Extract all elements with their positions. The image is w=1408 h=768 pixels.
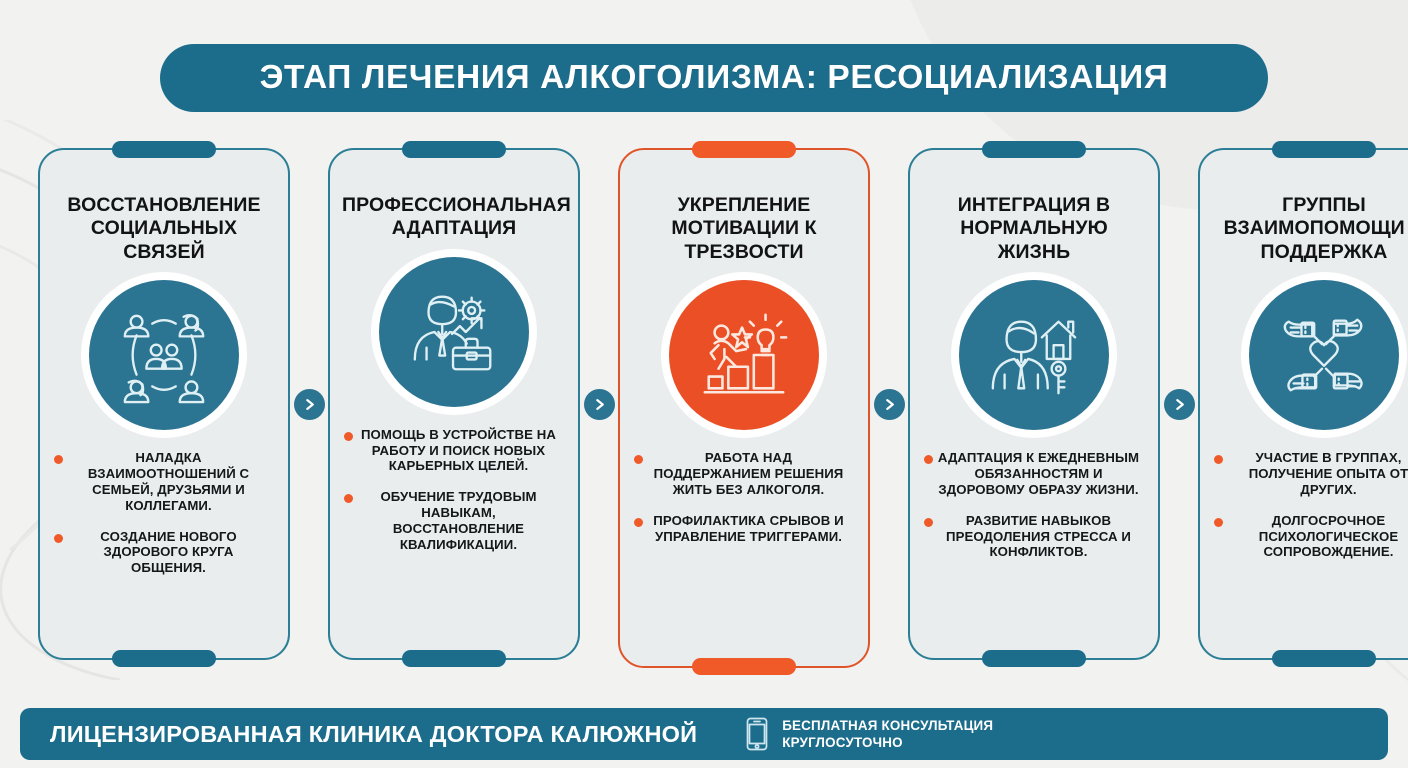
stage-card-title: УКРЕПЛЕНИЕ МОТИВАЦИИ К ТРЕЗВОСТИ [632,194,856,264]
stage-card-title: ПРОФЕССИОНАЛЬНАЯ АДАПТАЦИЯ [342,194,566,241]
card-tab-top [1272,141,1376,158]
stage-card-5[interactable]: ГРУППЫ ВЗАИМОПОМОЩИ И ПОДДЕРЖКА [1198,148,1408,660]
businessman-career-icon [405,283,503,381]
cta-line-1: БЕСПЛАТНАЯ КОНСУЛЬТАЦИЯ [782,717,993,734]
stage-card-2[interactable]: ПРОФЕССИОНАЛЬНАЯ АДАПТАЦИЯ [328,148,580,660]
bullet-dot-icon [344,494,353,503]
bullet-dot-icon [1214,518,1223,527]
bullet-text: ПРОФИЛАКТИКА СРЫВОВ И УПРАВЛЕНИЕ ТРИГГЕР… [643,513,854,545]
list-item: ПРОФИЛАКТИКА СРЫВОВ И УПРАВЛЕНИЕ ТРИГГЕР… [634,513,854,545]
bullet-text: НАЛАДКА ВЗАИМООТНОШЕНИЙ С СЕМЬЕЙ, ДРУЗЬЯ… [63,450,274,513]
stage-card-wrapper-2: ПРОФЕССИОНАЛЬНАЯ АДАПТАЦИЯ [328,148,580,660]
stage-card-4[interactable]: ИНТЕГРАЦИЯ В НОРМАЛЬНУЮ ЖИЗНЬ [908,148,1160,660]
clinic-name: ЛИЦЕНЗИРОВАННАЯ КЛИНИКА ДОКТОРА КАЛЮЖНОЙ [50,721,697,748]
stages-row: ВОССТАНОВЛЕНИЕ СОЦИАЛЬНЫХ СВЯЗЕЙ [0,148,1408,688]
list-item: НАЛАДКА ВЗАИМООТНОШЕНИЙ С СЕМЬЕЙ, ДРУЗЬЯ… [54,450,274,513]
stage-icon-circle [959,280,1109,430]
stage-card-1[interactable]: ВОССТАНОВЛЕНИЕ СОЦИАЛЬНЫХ СВЯЗЕЙ [38,148,290,660]
bullet-dot-icon [924,518,933,527]
bullet-text: РАБОТА НАД ПОДДЕРЖАНИЕМ РЕШЕНИЯ ЖИТЬ БЕЗ… [643,450,854,498]
card-tab-bottom [692,658,796,675]
stage-bullet-list: ПОМОЩЬ В УСТРОЙСТВЕ НА РАБОТУ И ПОИСК НО… [336,427,572,553]
stage-card-title: ВОССТАНОВЛЕНИЕ СОЦИАЛЬНЫХ СВЯЗЕЙ [52,194,276,264]
stage-icon-circle [379,257,529,407]
list-item: АДАПТАЦИЯ К ЕЖЕДНЕВНЫМ ОБЯЗАННОСТЯМ И ЗД… [924,450,1144,498]
list-item: ПОМОЩЬ В УСТРОЙСТВЕ НА РАБОТУ И ПОИСК НО… [344,427,564,475]
stage-card-wrapper-5: ГРУППЫ ВЗАИМОПОМОЩИ И ПОДДЕРЖКА [1198,148,1408,660]
bullet-text: АДАПТАЦИЯ К ЕЖЕДНЕВНЫМ ОБЯЗАННОСТЯМ И ЗД… [933,450,1144,498]
bullet-dot-icon [344,432,353,441]
bullet-text: ДОЛГОСРОЧНОЕ ПСИХОЛОГИЧЕСКОЕ СОПРОВОЖДЕН… [1223,513,1408,561]
stairs-star-bulb-icon [695,306,793,404]
stage-card-wrapper-4: ИНТЕГРАЦИЯ В НОРМАЛЬНУЮ ЖИЗНЬ [908,148,1160,660]
card-tab-bottom [1272,650,1376,667]
bullet-dot-icon [54,534,63,543]
bullet-text: РАЗВИТИЕ НАВЫКОВ ПРЕОДОЛЕНИЯ СТРЕССА И К… [933,513,1144,561]
stage-icon-circle [89,280,239,430]
footer-bar: ЛИЦЕНЗИРОВАННАЯ КЛИНИКА ДОКТОРА КАЛЮЖНОЙ… [20,708,1388,760]
stage-bullet-list: АДАПТАЦИЯ К ЕЖЕДНЕВНЫМ ОБЯЗАННОСТЯМ И ЗД… [916,450,1152,560]
bullet-dot-icon [634,455,643,464]
bullet-text: ПОМОЩЬ В УСТРОЙСТВЕ НА РАБОТУ И ПОИСК НО… [353,427,564,475]
bullet-dot-icon [54,455,63,464]
stage-bullet-list: УЧАСТИЕ В ГРУППАХ, ПОЛУЧЕНИЕ ОПЫТА ОТ ДР… [1206,450,1408,560]
list-item: РАБОТА НАД ПОДДЕРЖАНИЕМ РЕШЕНИЯ ЖИТЬ БЕЗ… [634,450,854,498]
bullet-dot-icon [924,455,933,464]
connector-2 [580,148,618,660]
people-network-icon [115,306,213,404]
stage-bullet-list: НАЛАДКА ВЗАИМООТНОШЕНИЙ С СЕМЬЕЙ, ДРУЗЬЯ… [46,450,282,576]
card-tab-top [692,141,796,158]
card-tab-bottom [402,650,506,667]
list-item: СОЗДАНИЕ НОВОГО ЗДОРОВОГО КРУГА ОБЩЕНИЯ. [54,529,274,577]
bullet-dot-icon [1214,455,1223,464]
card-tab-top [982,141,1086,158]
page-title-banner: ЭТАП ЛЕЧЕНИЯ АЛКОГОЛИЗМА: РЕСОЦИАЛИЗАЦИЯ [160,44,1268,112]
card-tab-bottom [982,650,1086,667]
list-item: ДОЛГОСРОЧНОЕ ПСИХОЛОГИЧЕСКОЕ СОПРОВОЖДЕН… [1214,513,1408,561]
cta-text-block: БЕСПЛАТНАЯ КОНСУЛЬТАЦИЯ КРУГЛОСУТОЧНО [782,717,993,752]
stage-icon-circle [1249,280,1399,430]
connector-4 [1160,148,1198,660]
page-title: ЭТАП ЛЕЧЕНИЯ АЛКОГОЛИЗМА: РЕСОЦИАЛИЗАЦИЯ [260,59,1169,97]
chevron-right-icon [1164,389,1195,420]
chevron-right-icon [294,389,325,420]
stage-card-title: ИНТЕГРАЦИЯ В НОРМАЛЬНУЮ ЖИЗНЬ [922,194,1146,264]
bullet-text: ОБУЧЕНИЕ ТРУДОВЫМ НАВЫКАМ, ВОССТАНОВЛЕНИ… [353,489,564,552]
list-item: ОБУЧЕНИЕ ТРУДОВЫМ НАВЫКАМ, ВОССТАНОВЛЕНИ… [344,489,564,552]
stage-card-wrapper-3: УКРЕПЛЕНИЕ МОТИВАЦИИ К ТРЕЗВОСТИ [618,148,870,668]
chevron-right-icon [584,389,615,420]
stage-card-wrapper-1: ВОССТАНОВЛЕНИЕ СОЦИАЛЬНЫХ СВЯЗЕЙ [38,148,290,660]
list-item: УЧАСТИЕ В ГРУППАХ, ПОЛУЧЕНИЕ ОПЫТА ОТ ДР… [1214,450,1408,498]
mobile-phone-icon [745,716,769,752]
bullet-dot-icon [634,518,643,527]
connector-1 [290,148,328,660]
card-tab-top [402,141,506,158]
stage-icon-circle [669,280,819,430]
stage-card-3[interactable]: УКРЕПЛЕНИЕ МОТИВАЦИИ К ТРЕЗВОСТИ [618,148,870,668]
consultation-cta[interactable]: БЕСПЛАТНАЯ КОНСУЛЬТАЦИЯ КРУГЛОСУТОЧНО [745,716,993,752]
hands-heart-icon [1275,306,1373,404]
bullet-text: СОЗДАНИЕ НОВОГО ЗДОРОВОГО КРУГА ОБЩЕНИЯ. [63,529,274,577]
chevron-right-icon [874,389,905,420]
cta-line-2: КРУГЛОСУТОЧНО [782,734,993,751]
person-house-key-icon [985,306,1083,404]
stage-card-title: ГРУППЫ ВЗАИМОПОМОЩИ И ПОДДЕРЖКА [1212,194,1408,264]
card-tab-bottom [112,650,216,667]
bullet-text: УЧАСТИЕ В ГРУППАХ, ПОЛУЧЕНИЕ ОПЫТА ОТ ДР… [1223,450,1408,498]
card-tab-top [112,141,216,158]
stage-bullet-list: РАБОТА НАД ПОДДЕРЖАНИЕМ РЕШЕНИЯ ЖИТЬ БЕЗ… [626,450,862,544]
list-item: РАЗВИТИЕ НАВЫКОВ ПРЕОДОЛЕНИЯ СТРЕССА И К… [924,513,1144,561]
connector-3 [870,148,908,660]
